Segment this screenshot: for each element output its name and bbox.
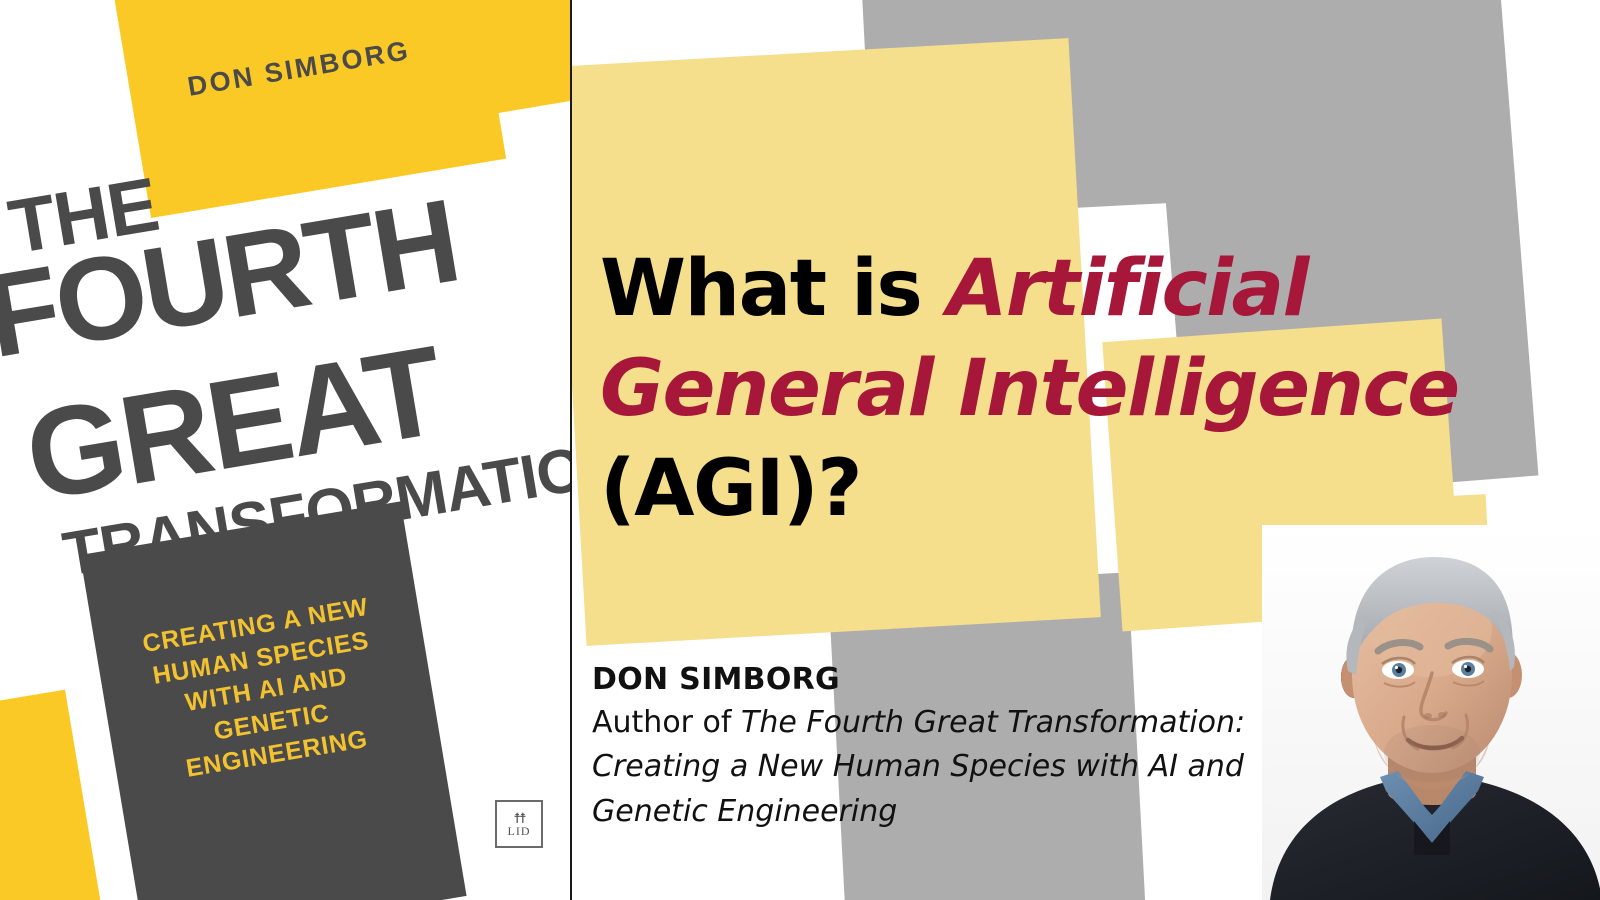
page-title-part-plain: What is — [600, 244, 947, 334]
publisher-logo-text: LID — [508, 825, 531, 837]
byline-prefix: Author of — [592, 705, 741, 740]
cover-yellow-block-corner — [0, 690, 103, 900]
author-byline: DON SIMBORG Author of The Fourth Great T… — [592, 662, 1252, 834]
publisher-crest-icon: ☨☨ — [513, 811, 524, 825]
page-title-part-suffix: (AGI)? — [600, 444, 861, 534]
content-panel: What is Artificial General Intelligence … — [572, 0, 1600, 900]
book-cover-panel: DON SIMBORG THE FOURTH GREAT TRANSFORMAT… — [0, 0, 570, 900]
author-portrait — [1262, 525, 1600, 900]
vertical-divider — [570, 0, 572, 900]
byline-author-name: DON SIMBORG — [592, 662, 1252, 697]
presentation-slide: DON SIMBORG THE FOURTH GREAT TRANSFORMAT… — [0, 0, 1600, 900]
byline-description: Author of The Fourth Great Transformatio… — [592, 701, 1252, 834]
publisher-logo: ☨☨ LID — [495, 800, 543, 848]
page-title: What is Artificial General Intelligence … — [600, 240, 1500, 539]
author-portrait-illustration — [1262, 525, 1600, 900]
